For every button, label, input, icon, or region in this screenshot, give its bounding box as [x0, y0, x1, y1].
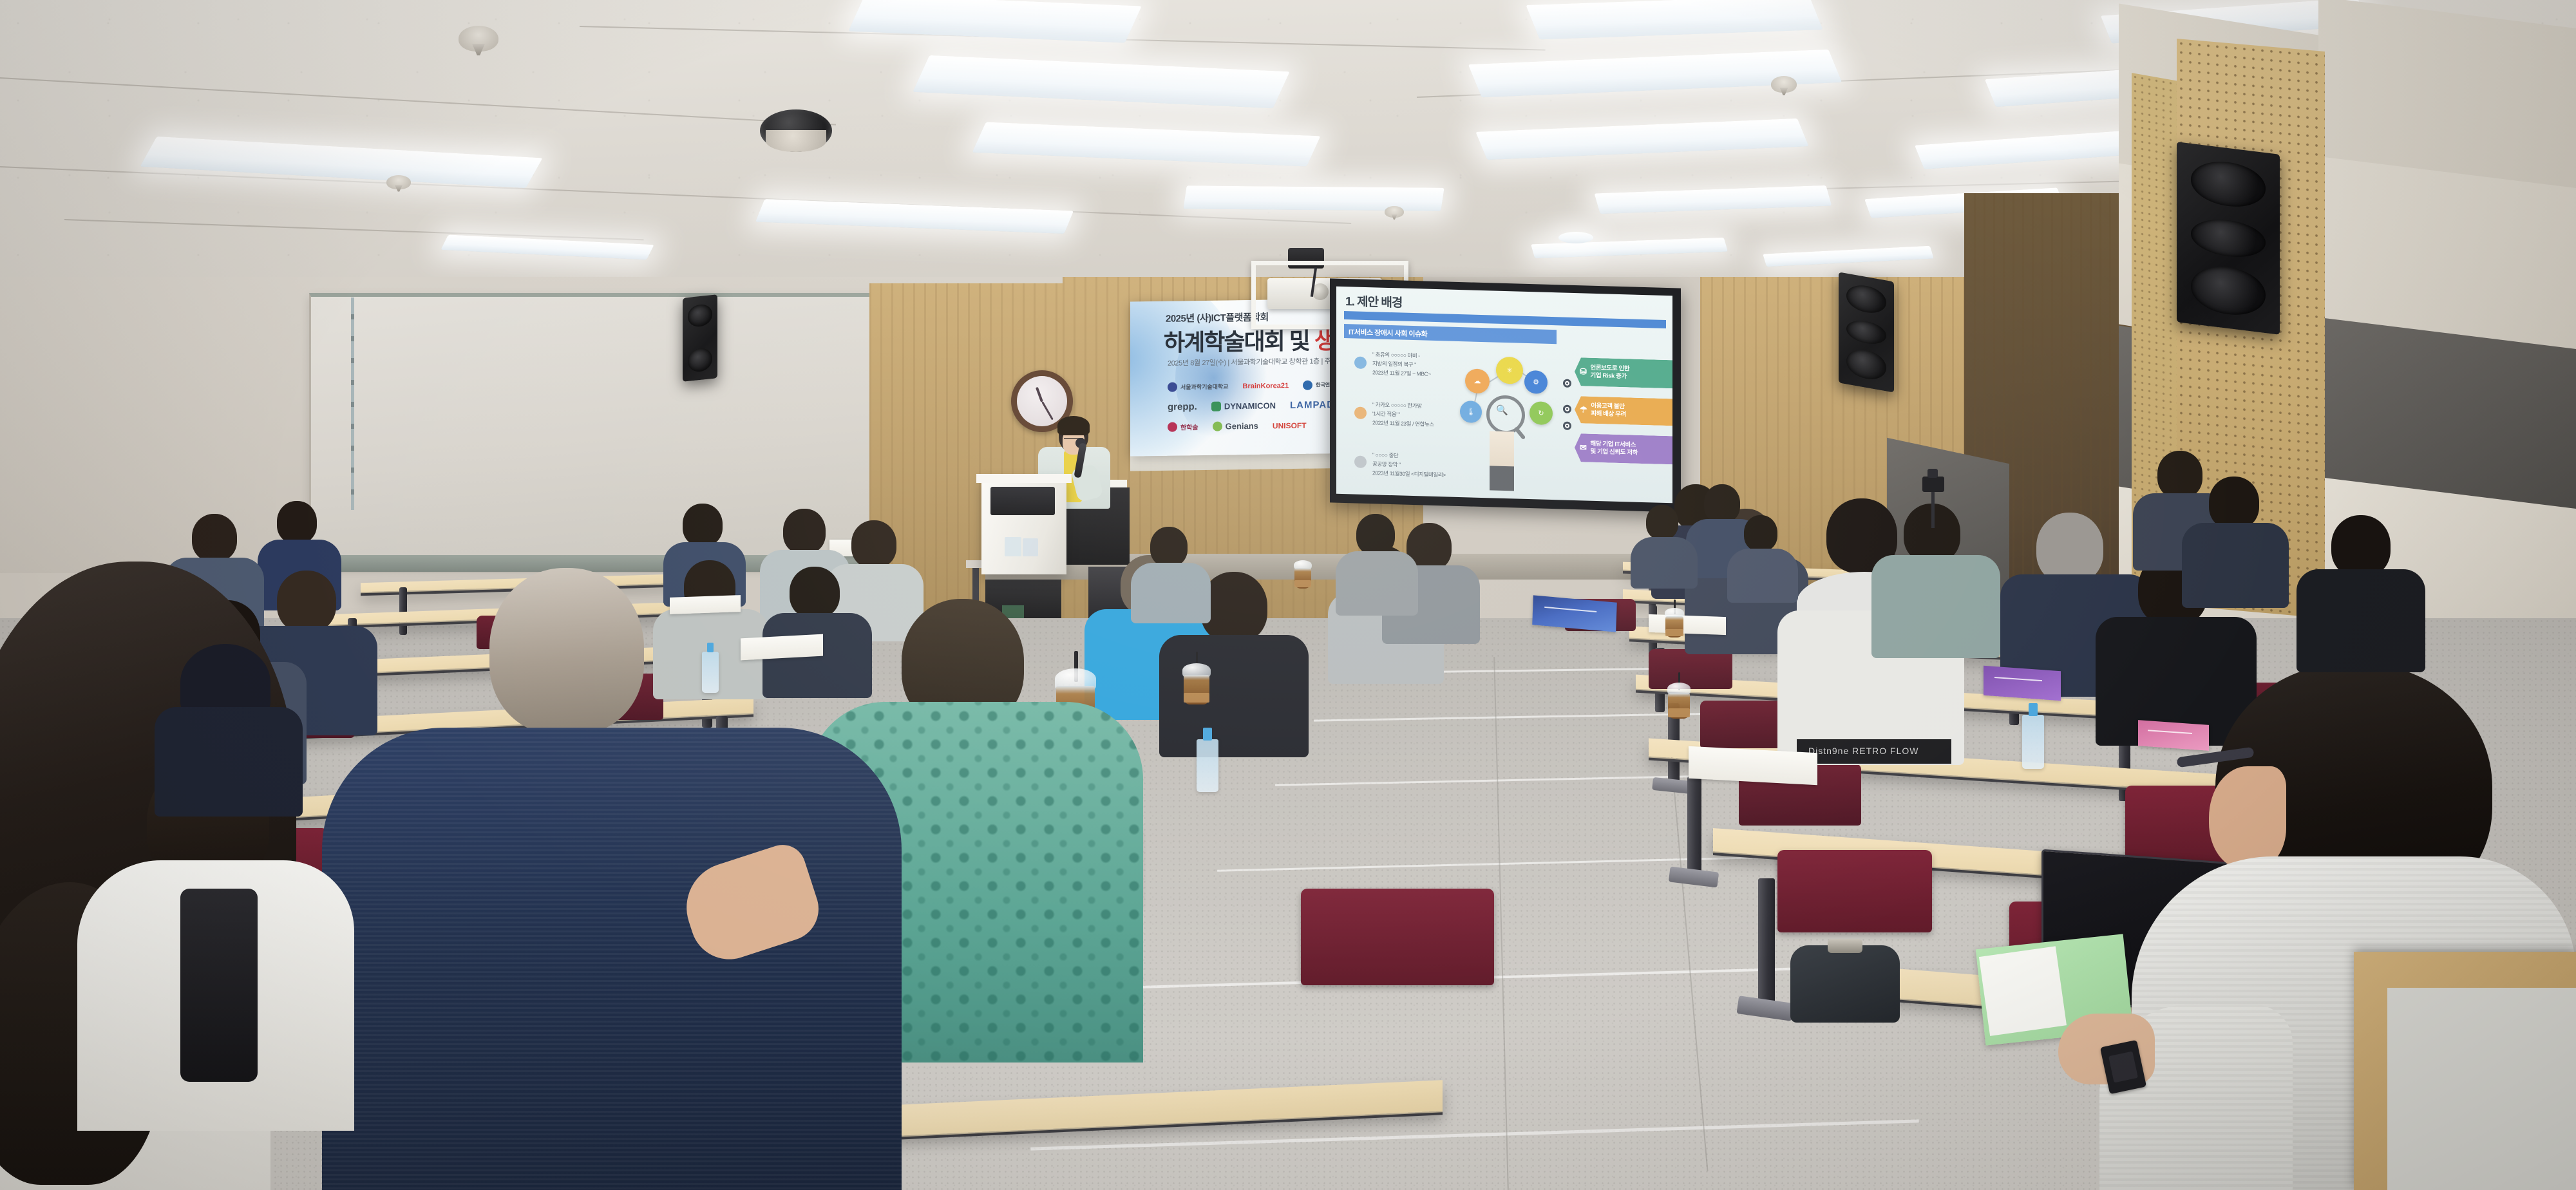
wall-speaker-side: [683, 294, 717, 382]
callout-damage-label: 이용고객 불만 피해 배상 우려: [1591, 402, 1626, 419]
chair-armrest: [180, 889, 258, 1082]
grepp-logo: grepp.: [1168, 401, 1197, 413]
conference-booklet-pink: [2138, 720, 2209, 751]
head: [2036, 513, 2103, 583]
iced-coffee-cup: [1294, 560, 1311, 589]
wall-speaker-left: [1839, 272, 1894, 392]
slide-bullet-marker: [1354, 406, 1367, 419]
hub-yellow: ✳: [1496, 357, 1523, 384]
torso: [1336, 551, 1418, 616]
callout-damage-icon: ☂: [1580, 406, 1587, 413]
callout-damage: ☂ 이용고객 불만 피해 배상 우려: [1575, 396, 1672, 426]
hub-orange-glyph: ☁: [1465, 377, 1490, 386]
callout-risk-label: 언론보도로 인한 기업 Risk 증가: [1591, 364, 1630, 381]
water-bottle: [702, 652, 719, 693]
genians-logo: Genians: [1213, 421, 1258, 431]
water-bottle: [1197, 739, 1218, 792]
lampad-logo: LAMPAD: [1290, 399, 1334, 411]
unisoft-logo: UNISOFT: [1273, 420, 1307, 430]
head: [1704, 484, 1740, 523]
cup-sleeve: [1184, 693, 1209, 703]
ceiling-light-panel: [1183, 185, 1444, 211]
cup-sleeve: [1665, 629, 1683, 636]
head: [277, 571, 336, 632]
paper-handout: [1649, 614, 1726, 635]
brainkorea21-logo: BrainKorea21: [1243, 382, 1289, 390]
chair[interactable]: [1301, 889, 1494, 985]
torso: [1159, 635, 1309, 757]
wooden-picture-frame: [2354, 952, 2576, 1190]
chair[interactable]: [1649, 649, 1732, 689]
callout-service-icon: ✉: [1580, 444, 1587, 451]
sprinkler-icon: [386, 175, 411, 189]
podium-water-glass: [1023, 538, 1038, 556]
cup-body: [1184, 675, 1209, 704]
head: [683, 504, 723, 546]
head: [1356, 514, 1395, 555]
conference-booklet-purple: [1984, 666, 2061, 701]
callout-service-label: 해당 기업 IT서비스 및 기업 신뢰도 저하: [1591, 440, 1638, 457]
torso: [1727, 549, 1798, 603]
hub-blue: ⚙: [1524, 370, 1548, 394]
tripod-pole: [1931, 491, 1935, 528]
callout-pin: [1563, 422, 1571, 430]
clock-minute-hand: [1041, 401, 1054, 420]
callout-risk-icon: ⛁: [1580, 368, 1587, 375]
screen-pull-cord[interactable]: [351, 297, 354, 510]
slide-section-band-label: IT서비스 장애시 사회 이슈화: [1349, 326, 1427, 339]
slide-bullet-line: 2023년 11월 27일 ~ MBC~: [1372, 368, 1431, 378]
banner-line-3: 2025년 8월 27일(수) | 서울과학기술대학교 창학관 1층 | 주최/…: [1168, 355, 1351, 368]
cup-body: [1665, 616, 1683, 637]
notebook-page: [1979, 946, 2067, 1035]
slide-bullet-line: " 초유의 ○○○○○ 마비 -: [1372, 350, 1420, 359]
slide-title: 1. 제안 배경: [1345, 292, 1402, 310]
sprinkler-icon: [1385, 206, 1404, 218]
desk-leg: [1758, 878, 1775, 1007]
acoustic-tile: [2318, 156, 2576, 350]
torso: [2182, 523, 2289, 608]
desk-leg: [1687, 777, 1701, 876]
slide-bullet-marker: [1354, 455, 1367, 468]
head: [790, 567, 840, 618]
banner-title-main: 하계학술대회 및: [1164, 328, 1314, 356]
seoultech-logo: 서울과학기술대학교: [1168, 381, 1229, 392]
clock-face: [1017, 376, 1067, 426]
head: [277, 501, 317, 543]
head: [783, 509, 826, 554]
cup-sleeve: [1668, 708, 1690, 717]
torso: [1631, 537, 1698, 589]
slide-bullet-line: " ○○○○ 중단: [1372, 451, 1398, 459]
head: [192, 514, 237, 562]
magnifier-inner-glyph: 🔍: [1496, 404, 1508, 417]
dynamicon-logo: DYNAMICON: [1211, 401, 1276, 411]
dome-camera-icon: [760, 109, 832, 152]
lecture-hall-photo: 2025년 (사)ICT플랫폼학회 하계학술대회 및 생 2025년 8월 27…: [0, 0, 2576, 1190]
callout-risk: ⛁ 언론보도로 인한 기업 Risk 증가: [1575, 357, 1672, 388]
slide-bullet-marker: [1354, 356, 1367, 369]
hub-blue-glyph: ⚙: [1524, 377, 1548, 386]
hub-green: ↻: [1529, 401, 1553, 425]
hub-lightblue: 🌡: [1460, 401, 1482, 423]
clock-hour-hand: [1036, 387, 1043, 402]
paper-handout: [741, 634, 823, 661]
hub-yellow-glyph: ✳: [1496, 366, 1523, 375]
hub-orange: ☁: [1465, 368, 1490, 393]
slide-bullet-line: 2022년 11월 23일 / 연합뉴스: [1372, 419, 1434, 428]
picture-frame-inner: [2387, 988, 2576, 1190]
ceiling-downlight: [1558, 232, 1593, 243]
head: [1646, 505, 1678, 540]
head: [2209, 477, 2259, 529]
hoodie-hem: Distn9ne RETRO FLOW: [1797, 739, 1951, 764]
cup-body: [1294, 568, 1311, 589]
iced-coffee-cup: [1665, 608, 1683, 637]
podium-top: [976, 474, 1072, 483]
callout-pin: [1563, 405, 1571, 413]
head: [489, 568, 644, 734]
head: [1744, 515, 1777, 551]
hub-lightblue-glyph: 🌡: [1460, 408, 1482, 417]
slide-bullet-line: " 카카오 ○○○○○ 한가망: [1372, 401, 1422, 410]
backpack: [1790, 945, 1900, 1023]
iced-coffee-cup: [1184, 663, 1209, 704]
backpack-strap: [1828, 939, 1862, 953]
torso: [1871, 555, 2000, 658]
torso: [322, 728, 902, 1190]
hoodie-text: Distn9ne RETRO FLOW: [1808, 746, 1918, 756]
tripod-camera: [1922, 477, 1944, 492]
torso: [2297, 569, 2425, 672]
slide-bullet-line: 공공망 장악 ": [1372, 460, 1401, 468]
callout-pin: [1563, 379, 1571, 388]
head: [1150, 527, 1188, 567]
water-bottle: [2022, 715, 2044, 769]
chair[interactable]: [1777, 850, 1932, 932]
projection-screen: 1. 제안 배경 IT서비스 장애시 사회 이슈화 " 초유의 ○○○○○ 마비…: [1336, 287, 1672, 504]
callout-service: ✉ 해당 기업 IT서비스 및 기업 신뢰도 저하: [1575, 433, 1672, 464]
hanhaksu-logo: 한학술: [1168, 422, 1198, 432]
ear: [2209, 766, 2286, 869]
sprinkler-icon: [1771, 76, 1797, 93]
slide-bullet-line: 2023년 11월30일 <디지털데일리>: [1372, 469, 1446, 478]
podium-monitor: [990, 487, 1055, 515]
paper-handout: [670, 595, 741, 614]
sprinkler-icon: [459, 26, 498, 52]
head: [2157, 451, 2202, 498]
podium-water-glass: [1005, 537, 1021, 556]
head: [851, 520, 896, 568]
slide-podium-base: [1490, 466, 1514, 491]
tripod-camera-lens: [1927, 469, 1938, 478]
slide-bullet-line: 지방의 일정의 복구 ": [1372, 359, 1416, 368]
torso: [155, 707, 303, 817]
hub-green-glyph: ↻: [1529, 409, 1553, 418]
iced-coffee-cup: [1668, 683, 1690, 719]
wall-speaker-right: [2177, 142, 2280, 335]
head: [2331, 515, 2391, 577]
presenter-hair: [1057, 416, 1090, 435]
paper-handout: [1689, 746, 1817, 785]
slide-section-band: IT서비스 장애시 사회 이슈화: [1344, 324, 1557, 344]
cup-body: [1668, 693, 1690, 719]
slide-bullet-line: '1시간 적용' ": [1372, 410, 1400, 418]
cup-sleeve: [1294, 580, 1311, 587]
torso: [1131, 563, 1211, 623]
